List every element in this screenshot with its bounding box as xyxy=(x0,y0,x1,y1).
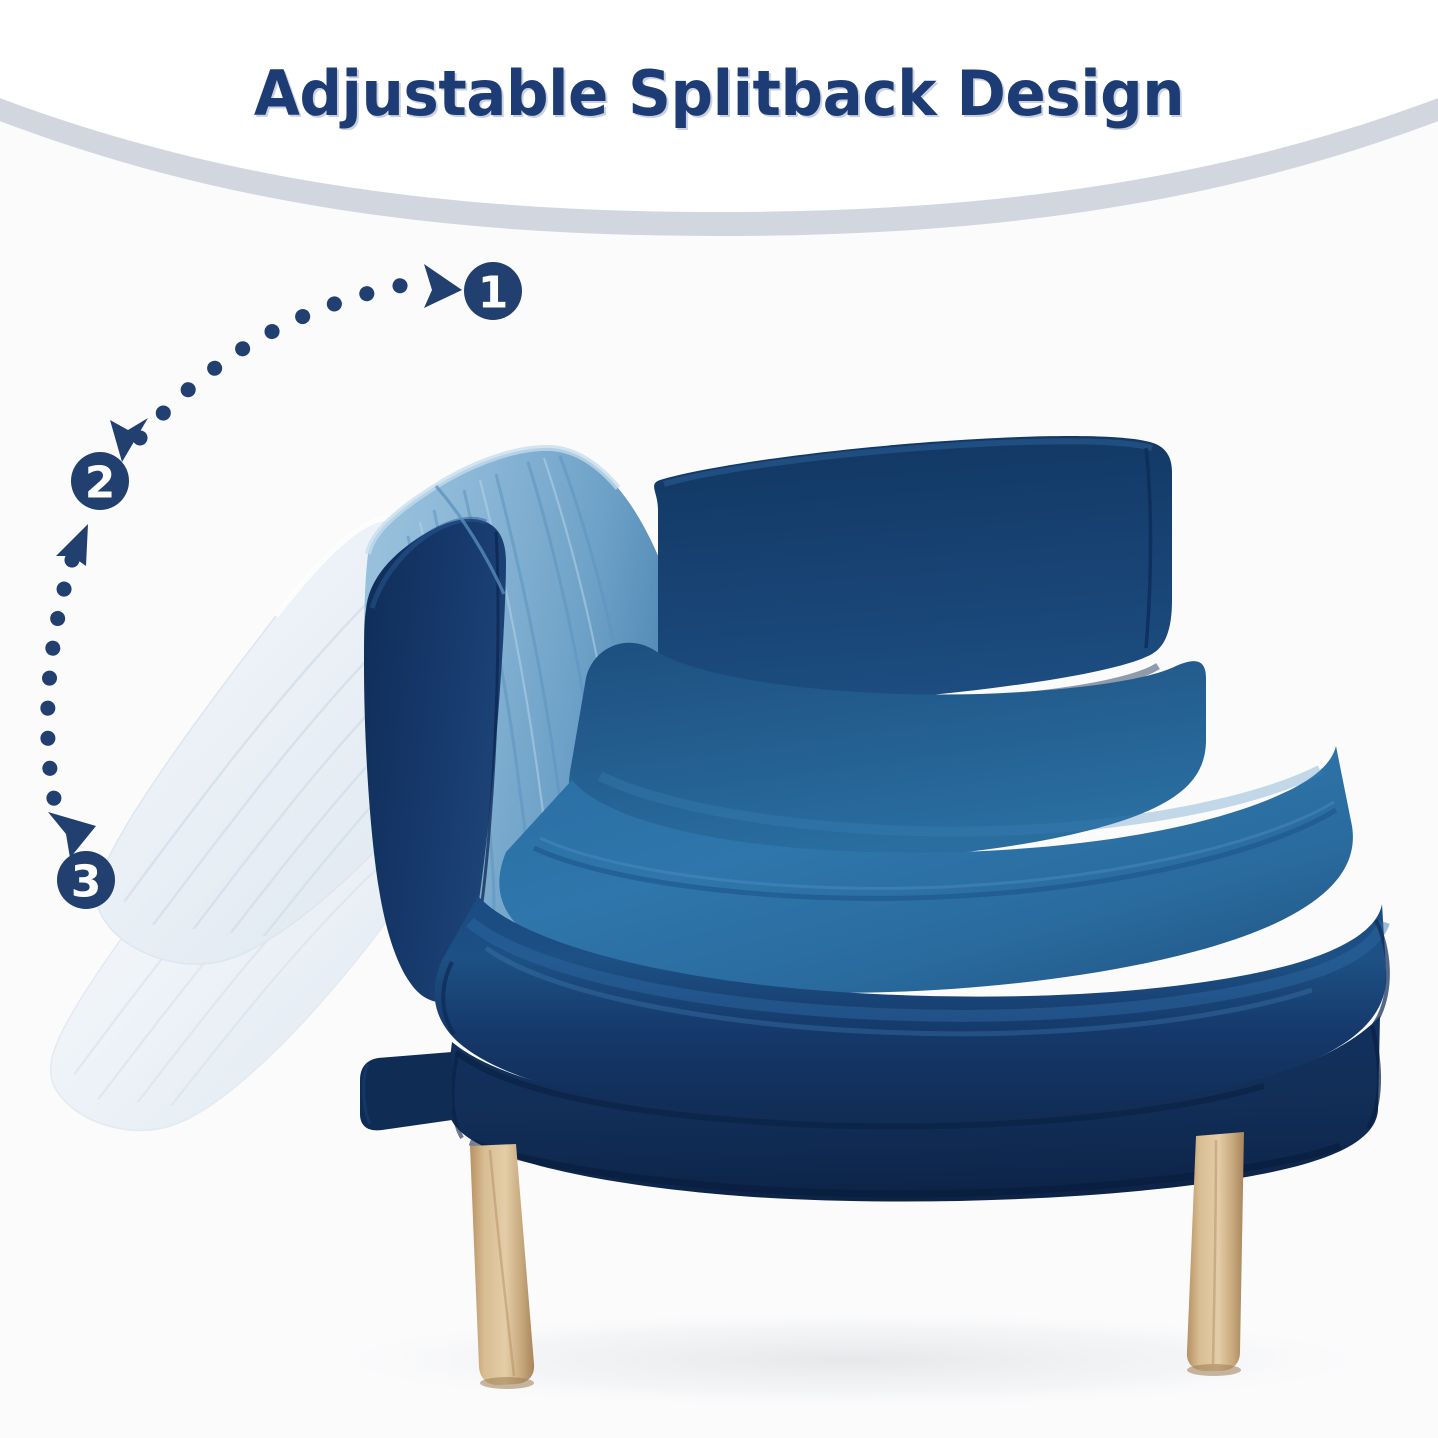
callout-overlay: 1 2 3 xyxy=(0,0,1438,1438)
arrowhead-right xyxy=(424,264,462,308)
step-badge-3[interactable]: 3 xyxy=(57,851,115,909)
infographic-canvas: Adjustable Splitback Design xyxy=(0,0,1438,1438)
arrow-2-to-3 xyxy=(48,524,96,858)
arrowhead-down xyxy=(48,812,96,858)
step-badge-2[interactable]: 2 xyxy=(71,452,129,510)
arrow-1-to-2 xyxy=(110,264,462,462)
step-badge-1[interactable]: 1 xyxy=(464,262,522,320)
